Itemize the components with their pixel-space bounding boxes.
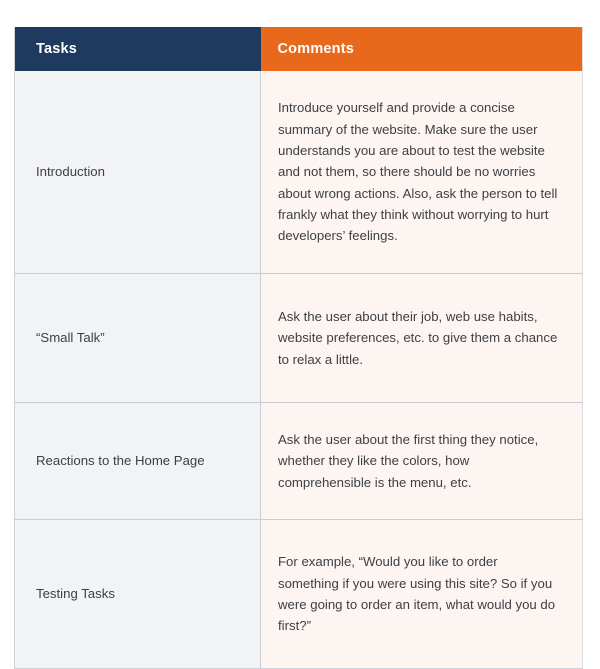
table-header: Tasks Comments — [15, 27, 583, 71]
comment-cell: Introduce yourself and provide a concise… — [261, 71, 583, 274]
comment-cell: For example, “Would you like to order so… — [261, 520, 583, 669]
table-row: Testing Tasks For example, “Would you li… — [15, 520, 583, 669]
comment-cell: Ask the user about their job, web use ha… — [261, 274, 583, 403]
column-header-tasks: Tasks — [15, 27, 261, 71]
table-body: Introduction Introduce yourself and prov… — [15, 71, 583, 669]
table-header-row: Tasks Comments — [15, 27, 583, 71]
task-cell: “Small Talk” — [15, 274, 261, 403]
task-cell: Testing Tasks — [15, 520, 261, 669]
table-row: “Small Talk” Ask the user about their jo… — [15, 274, 583, 403]
column-header-comments: Comments — [261, 27, 583, 71]
table-row: Reactions to the Home Page Ask the user … — [15, 403, 583, 520]
tasks-comments-table: Tasks Comments Introduction Introduce yo… — [14, 27, 583, 669]
table-row: Introduction Introduce yourself and prov… — [15, 71, 583, 274]
task-cell: Reactions to the Home Page — [15, 403, 261, 520]
tasks-table-container: Tasks Comments Introduction Introduce yo… — [14, 27, 582, 669]
comment-cell: Ask the user about the first thing they … — [261, 403, 583, 520]
page-root: Tasks Comments Introduction Introduce yo… — [0, 0, 600, 600]
task-cell: Introduction — [15, 71, 261, 274]
